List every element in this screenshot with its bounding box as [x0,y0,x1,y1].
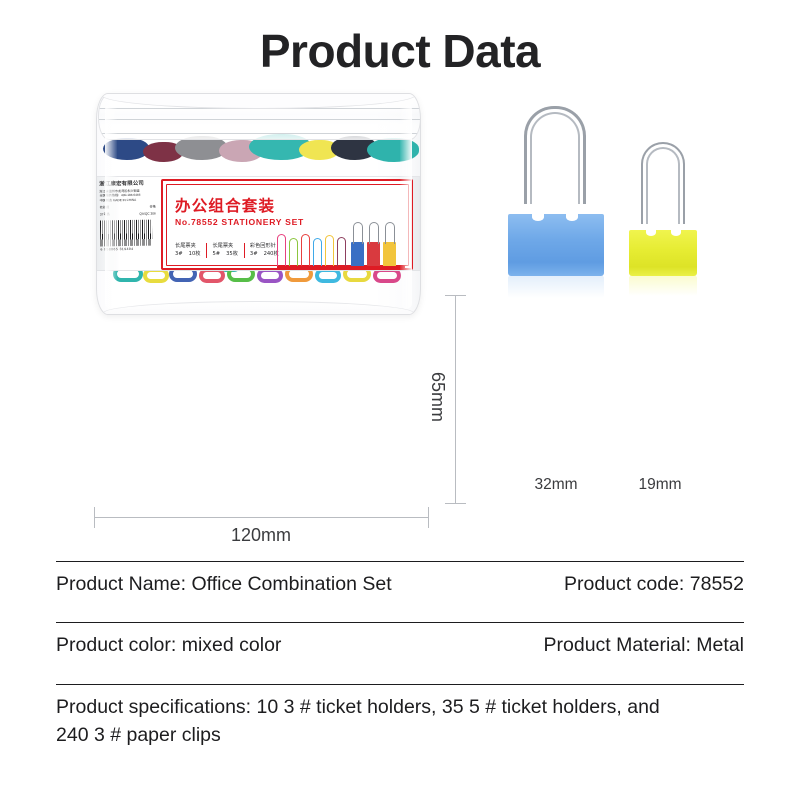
barcode-number: 6 958065 319494 [100,246,156,252]
large-clip-body [508,214,604,276]
label-art-baseline [277,266,405,268]
label-spec-count: 35枚 [226,251,238,259]
label-spec-name: 长尾票夹 [175,243,200,251]
small-clip-reflection [629,276,697,296]
spec-row-name: Product Name: Office Combination Set Pro… [56,561,744,623]
page-title: Product Data [0,0,800,78]
product-specifications-value: Product specifications: 10 3 # ticket ho… [56,693,696,750]
small-clip-wire-inner [646,147,680,224]
jar-label: 浙江康宏有限公司 浙江省温州市龙湾区永兴街道 全国服务热线：400-186-64… [97,176,421,271]
jar-width-dimension-line [94,517,428,518]
jar-height-cap-top [445,295,466,296]
barcode-icon [100,220,152,247]
label-inspector-values: 37号员 QA/QC 306 [100,212,156,217]
label-spec-name: 长尾票夹 [212,243,237,251]
jar-height-dimension-line [455,295,456,503]
label-spec-strip: 长尾票夹 3# 10枚 长尾票夹 5# 35枚 [175,243,285,258]
product-jar: 浙江康宏有限公司 浙江省温州市龙湾区永兴街道 全国服务热线：400-186-64… [96,85,421,320]
label-spec-size: 5# [212,251,220,259]
label-company-name: 浙江康宏有限公司 [99,181,155,189]
label-qualified-value: QA/QC 306 [139,212,156,217]
spec-row-color-material: Product color: mixed color Product Mater… [56,623,744,685]
label-inspector-row: 检验员 合格 [100,204,156,209]
large-clip-size-label: 32mm [508,476,604,494]
product-color-value: Product color: mixed color [56,631,281,659]
large-clip-wire-inner [530,112,580,204]
label-inspector-key: 检验员 [100,205,110,209]
jar-body: 浙江康宏有限公司 浙江省温州市龙湾区永兴街道 全国服务热线：400-186-64… [96,93,421,315]
small-binder-clip [629,142,697,276]
label-artwork [277,206,405,268]
label-art-binder-wire [353,222,363,244]
product-image-stage: 浙江康宏有限公司 浙江省温州市龙湾区永兴街道 全国服务热线：400-186-64… [0,80,800,505]
label-spec-count: 10枚 [189,251,201,259]
jar-height-label: 65mm [427,372,448,422]
label-spec-qty: 3# 10枚 [175,251,200,259]
jar-height-cap-bottom [445,503,466,504]
label-spec-size: 3# [250,251,258,259]
spec-row-specifications: Product specifications: 10 3 # ticket ho… [56,685,744,759]
large-clip-reflection [508,276,604,298]
jar-width-cap-right [428,507,429,528]
small-clip-body [629,230,697,276]
label-company-block: 浙江康宏有限公司 浙江省温州市龙湾区永兴街道 全国服务热线：400-186-64… [99,181,157,270]
label-qualified-key: 合格 [149,204,155,208]
label-spec-item: 长尾票夹 5# 35枚 [206,243,243,258]
product-name-value: Product Name: Office Combination Set [56,570,392,598]
label-inspector-value: 37号员 [100,212,110,216]
small-clip-size-label: 19mm [626,476,694,494]
label-spec-qty: 5# 35枚 [212,251,237,259]
label-spec-qty: 3# 240枚 [250,251,279,259]
label-art-binder-wire [385,222,395,244]
jar-width-label: 120mm [94,525,428,546]
product-code-value: Product code: 78552 [564,570,744,598]
product-material-value: Product Material: Metal [544,631,745,659]
label-main-panel: 办公组合套装 No.78552 STATIONERY SET 长尾票夹 3# 1… [161,179,413,270]
label-art-binder-wire [369,222,379,244]
label-origin: 中国制造 MADE IN CHINA [100,197,156,202]
large-binder-clip [508,106,604,276]
label-title-chinese: 办公组合套装 [175,194,275,216]
specifications-table: Product Name: Office Combination Set Pro… [56,561,744,759]
label-spec-size: 3# [175,251,183,259]
label-spec-item: 长尾票夹 3# 10枚 [175,243,206,258]
label-spec-name: 彩色回形针 [250,243,279,251]
